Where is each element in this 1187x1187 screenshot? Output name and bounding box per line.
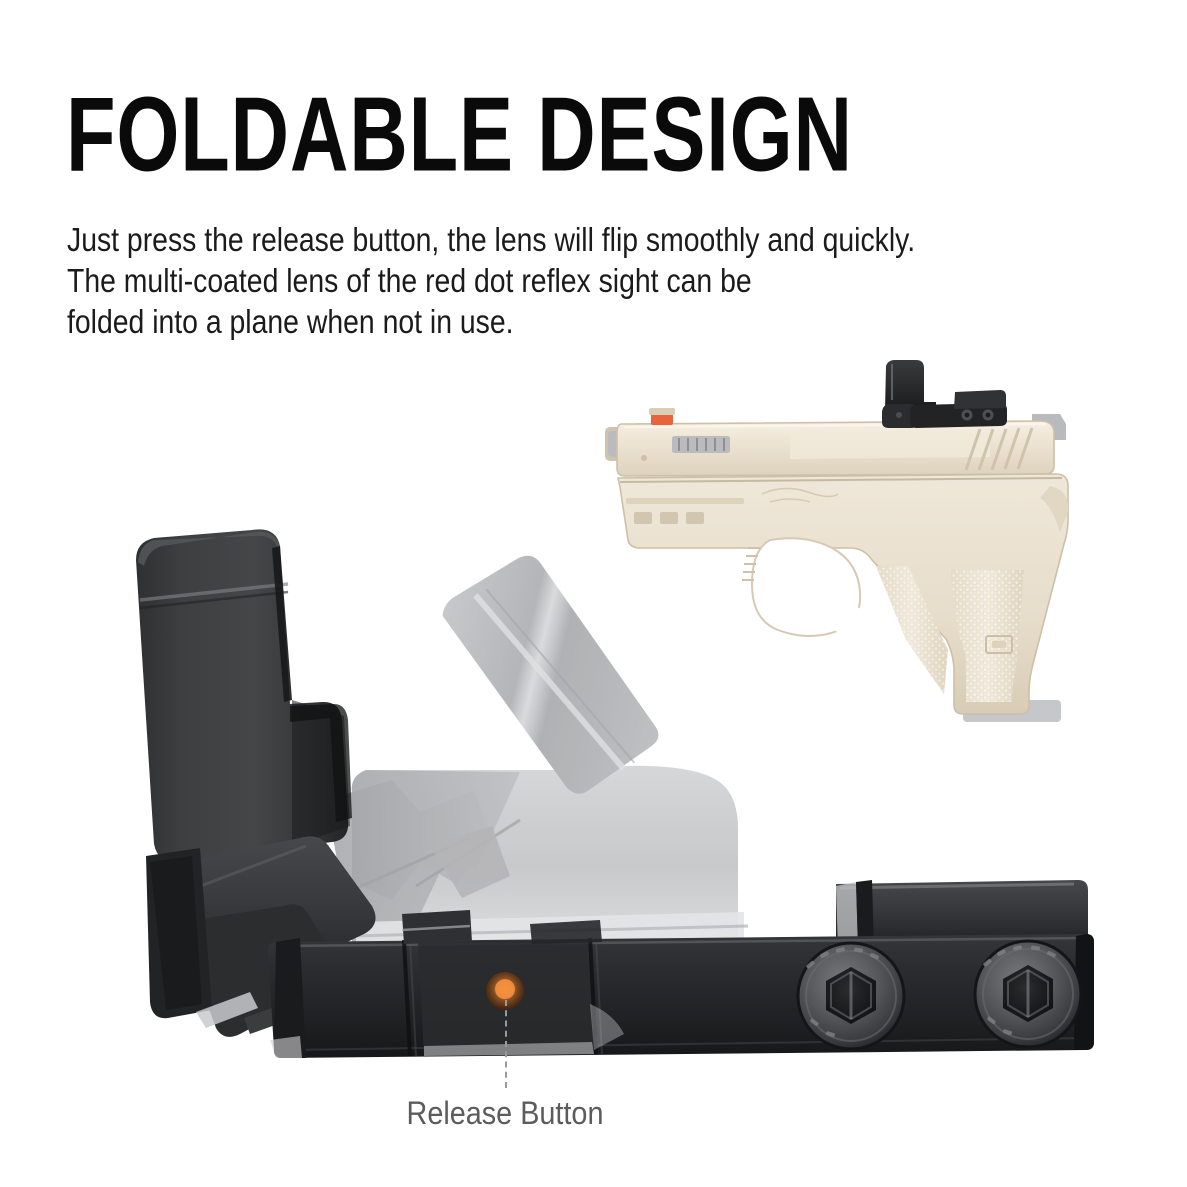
foldable-sight-product bbox=[0, 0, 1187, 1187]
callout-leader-line bbox=[505, 1000, 507, 1088]
marketing-slide: FOLDABLE DESIGN Just press the release b… bbox=[0, 0, 1187, 1187]
release-button-label: Release Button bbox=[321, 1095, 690, 1132]
mount-screw-rear bbox=[975, 941, 1081, 1047]
mount-screw-front bbox=[798, 943, 904, 1049]
sight-folded-group bbox=[136, 529, 1094, 1058]
